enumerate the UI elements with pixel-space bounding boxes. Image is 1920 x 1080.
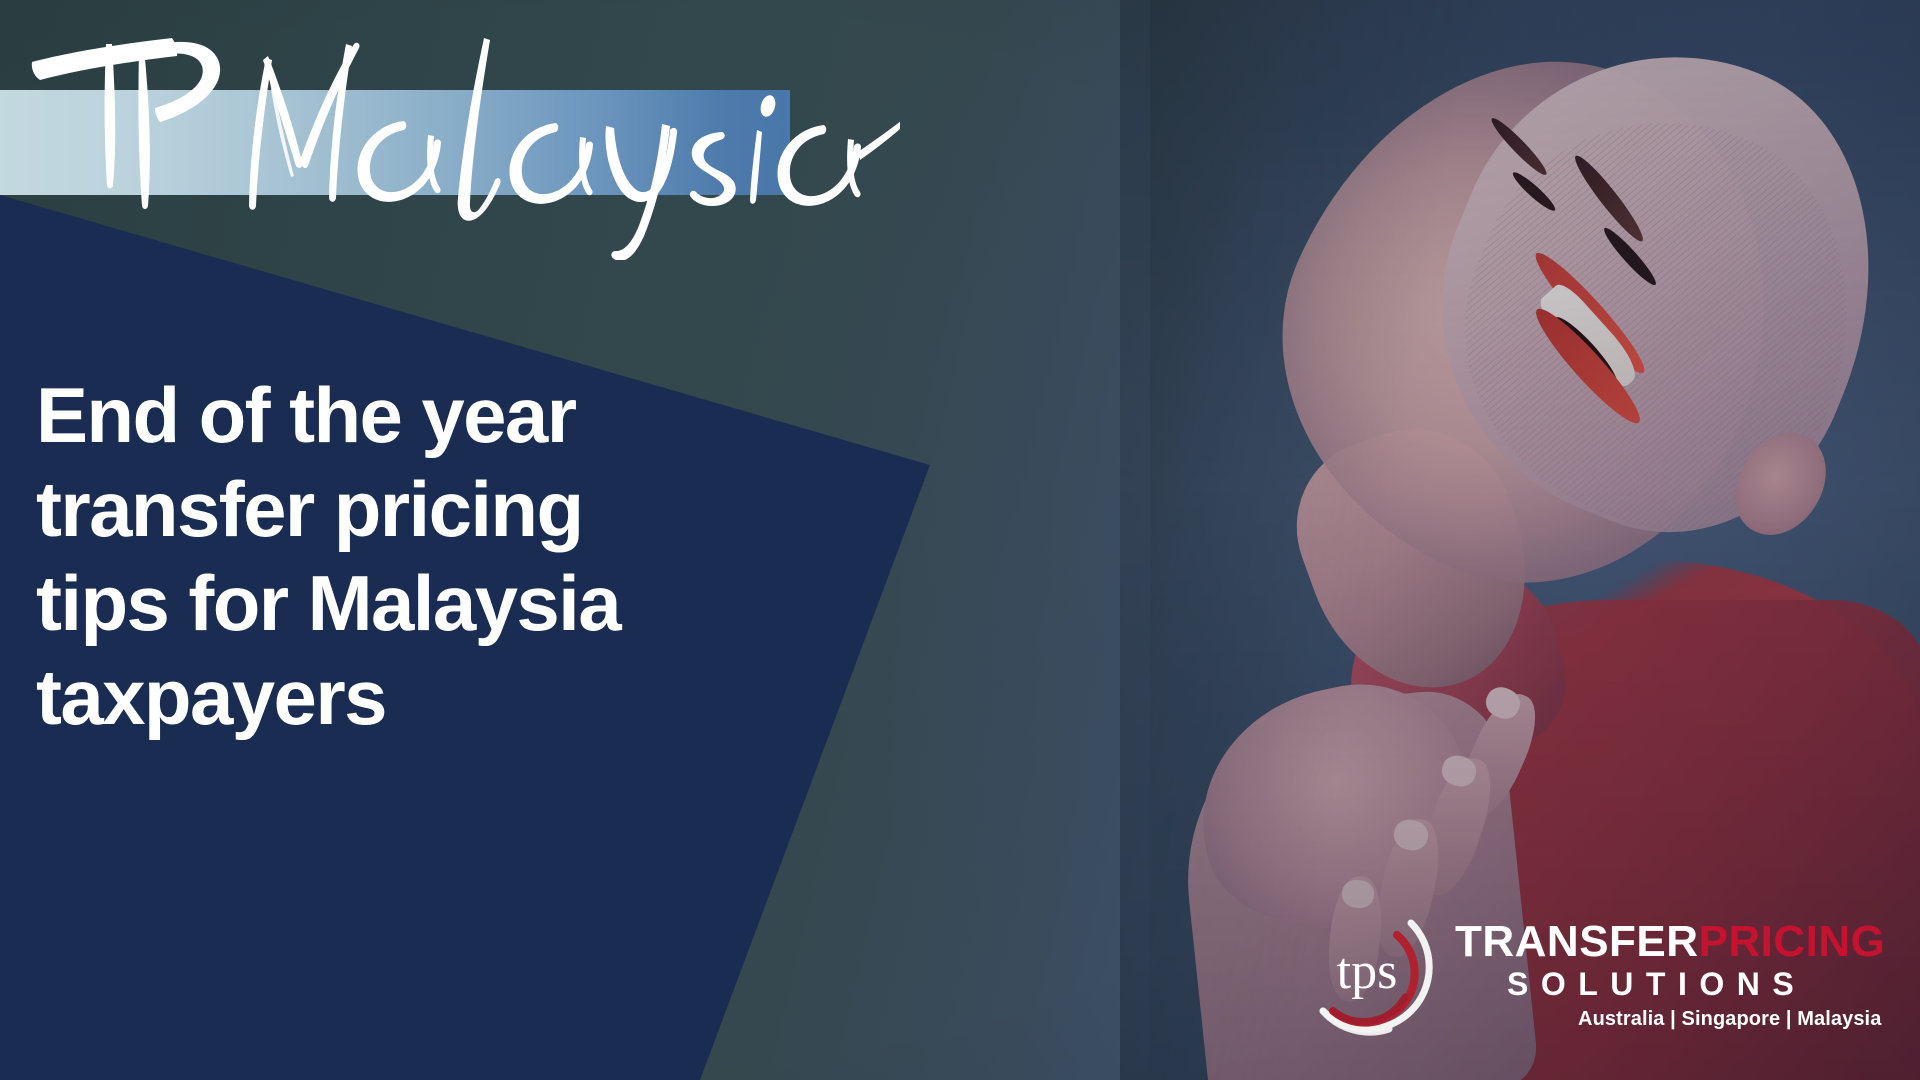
- tps-monogram: tps: [1293, 899, 1441, 1047]
- page-title: End of the year transfer pricing tips fo…: [36, 368, 696, 744]
- word-pricing: PRICING: [1699, 917, 1886, 966]
- tps-wordmark: TRANSFERPRICING SOLUTIONS Australia | Si…: [1455, 915, 1885, 1032]
- tps-logo[interactable]: tps TRANSFERPRICING SOLUTIONS Australia …: [1293, 893, 1863, 1053]
- tp-malaysia-script-icon: [0, 0, 900, 260]
- tps-primary-words: TRANSFERPRICING: [1455, 919, 1885, 965]
- promo-banner: End of the year transfer pricing tips fo…: [0, 0, 1920, 1080]
- tps-circle-mark: tps: [1293, 899, 1441, 1047]
- logo-locations: Australia | Singapore | Malaysia: [1455, 1003, 1885, 1032]
- word-transfer: TRANSFER: [1455, 917, 1699, 966]
- series-wordmark: [0, 0, 900, 260]
- word-solutions: SOLUTIONS: [1455, 965, 1885, 1003]
